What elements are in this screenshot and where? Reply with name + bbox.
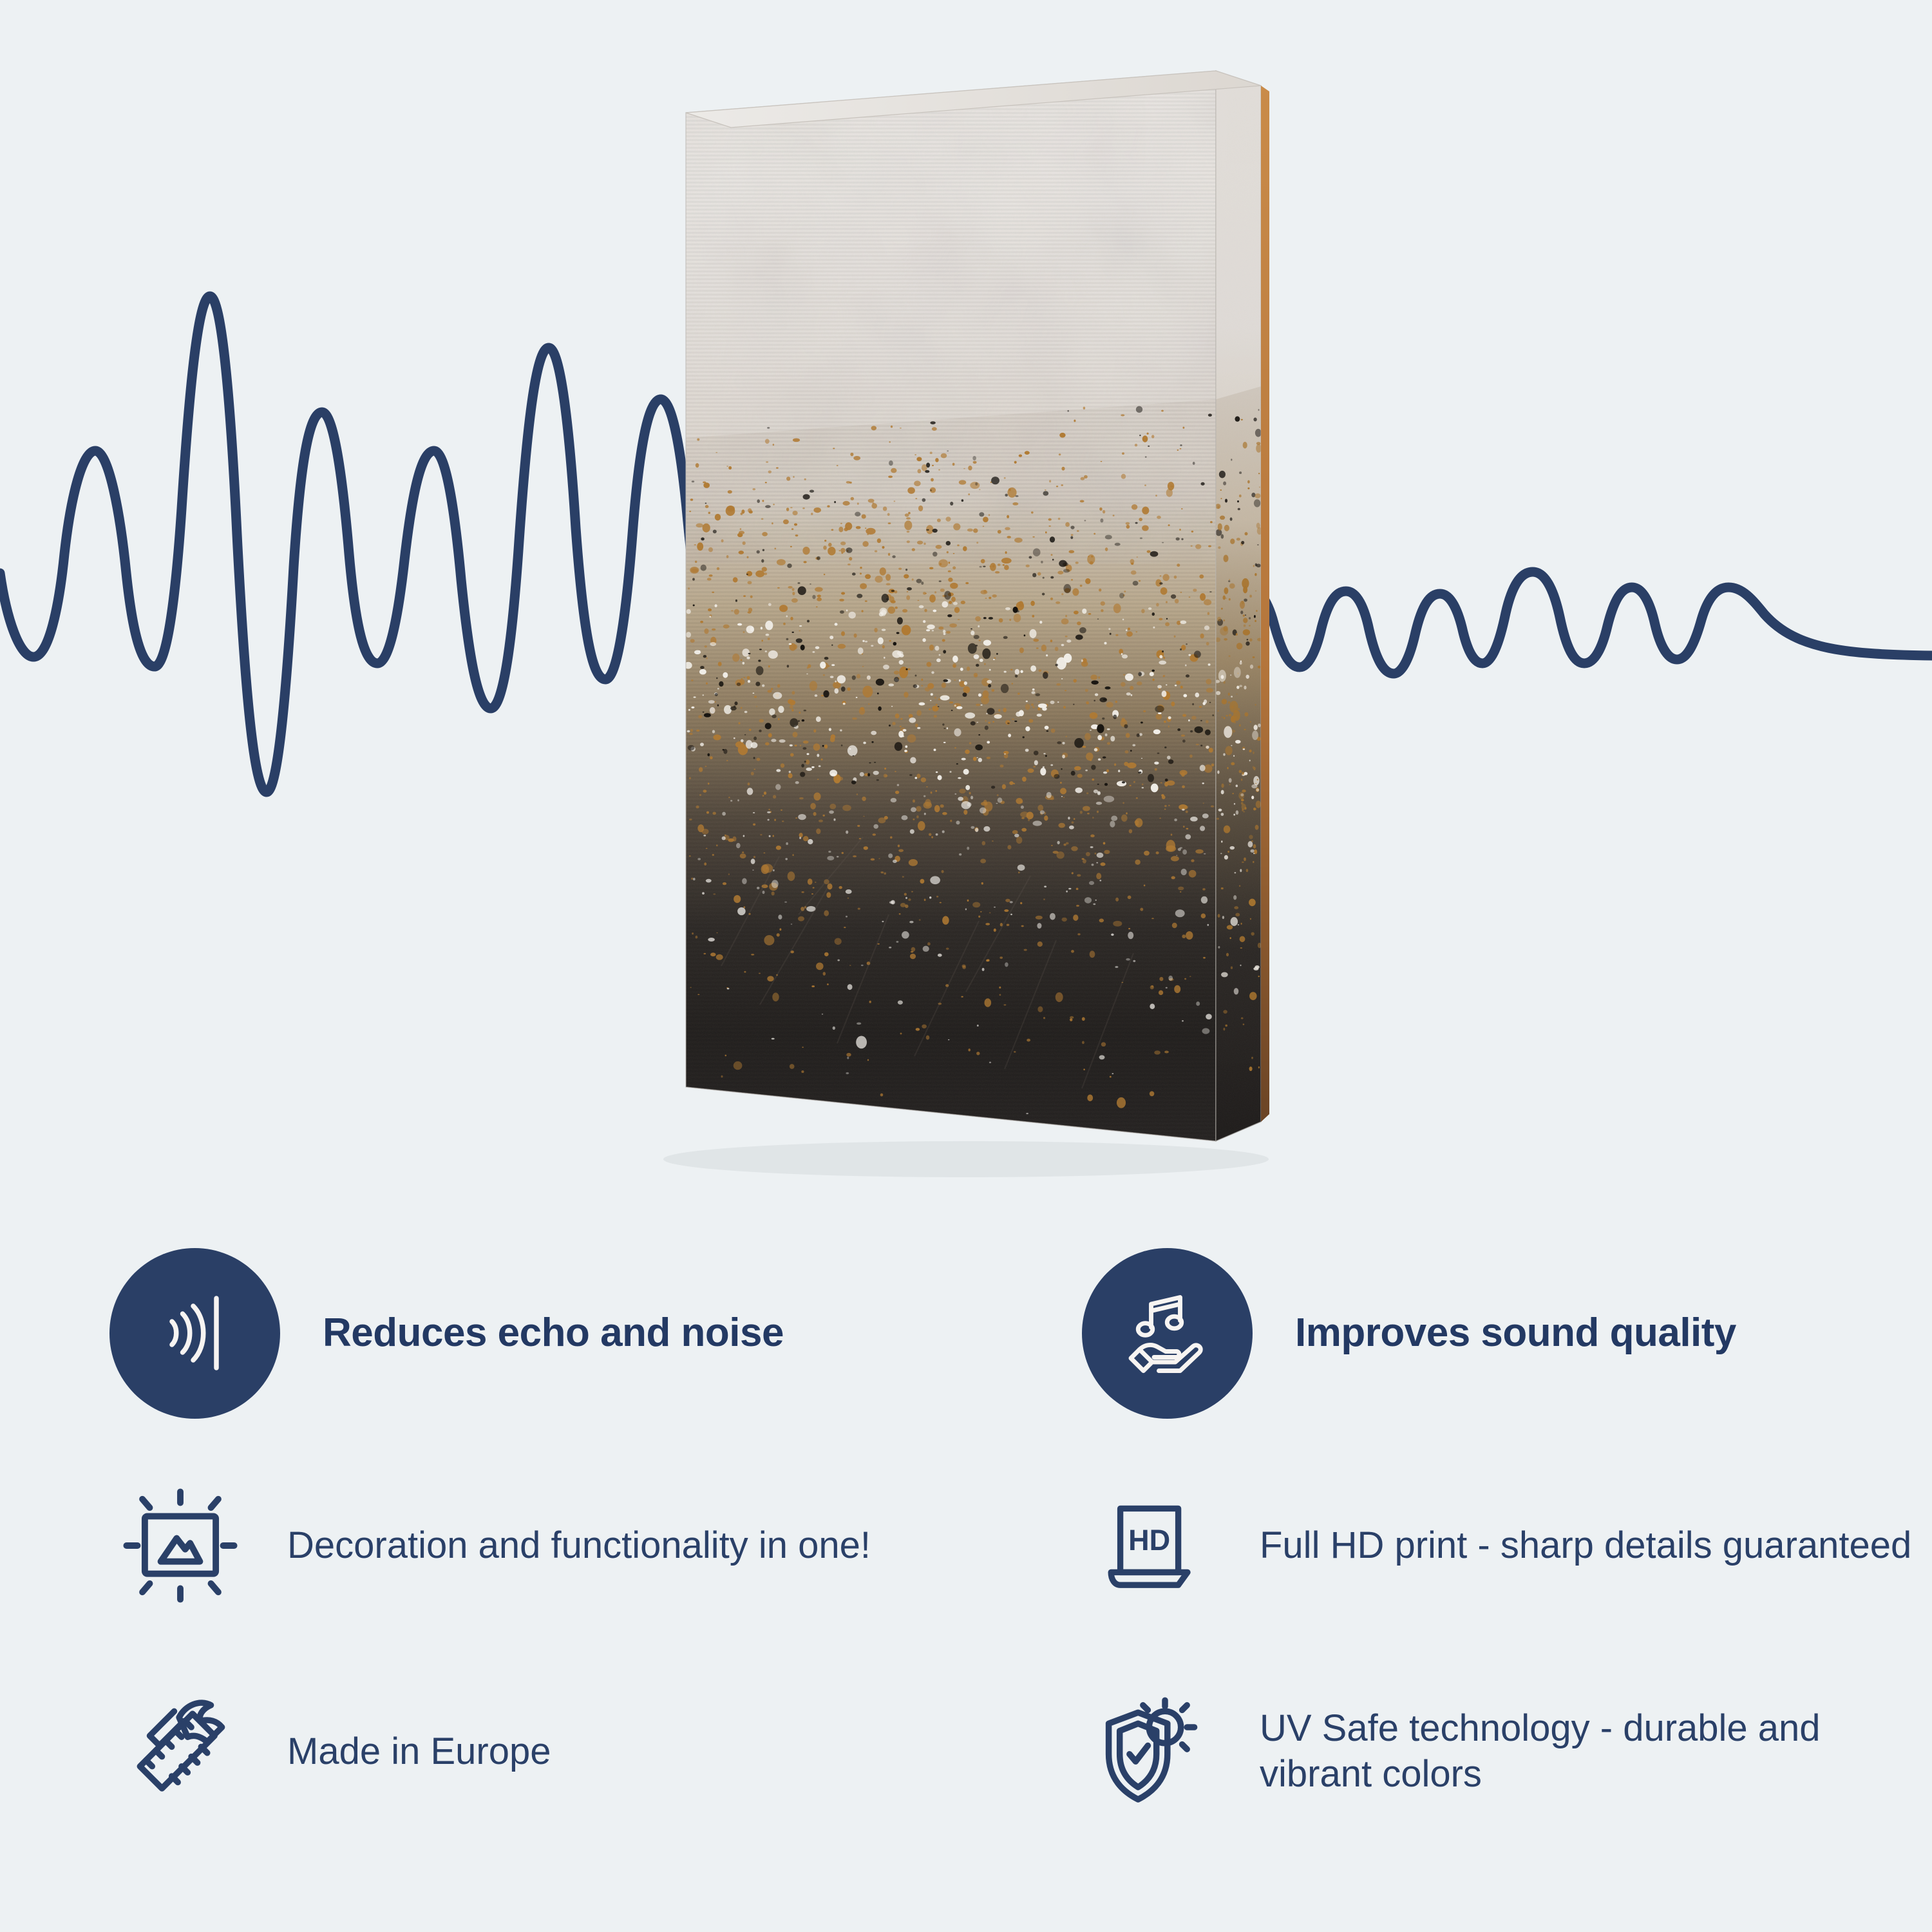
music-note-hand-icon [1082, 1248, 1253, 1419]
feature-highlight-sound-quality: Improves sound quality [0, 1224, 1932, 1443]
hd-screen-icon: HD [1082, 1475, 1224, 1616]
feature-list: Reduces echo and noise [0, 1224, 1932, 1932]
feature-uv-safe-technology: UV Safe technology - durable and vibrant… [0, 1649, 1932, 1855]
feature-label: Improves sound quality [1295, 1310, 1736, 1356]
shield-check-sun-icon [1082, 1681, 1224, 1823]
canvas-front-face [683, 68, 1224, 1150]
feature-full-hd-print: HD Full HD print - sharp details guarant… [0, 1443, 1932, 1649]
infographic-stage: Reduces echo and noise [0, 0, 1932, 1932]
feature-label: Full HD print - sharp details guaranteed [1260, 1523, 1911, 1569]
svg-text:HD: HD [1128, 1524, 1170, 1557]
canvas-side-panel [1214, 68, 1265, 1150]
stretcher-wood-edge [1261, 86, 1269, 1122]
feature-label: UV Safe technology - durable and vibrant… [1260, 1706, 1917, 1797]
